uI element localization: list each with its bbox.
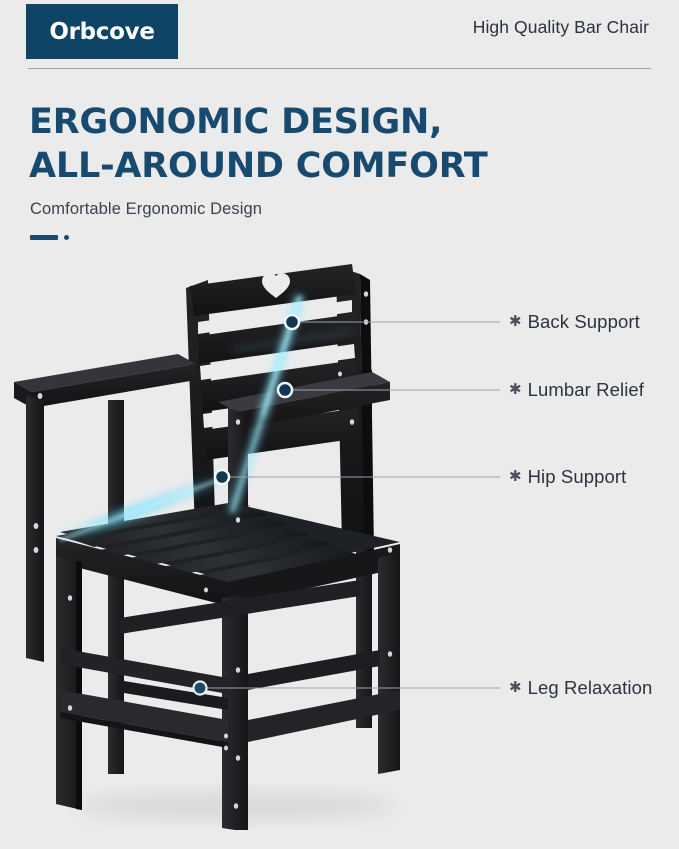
marker-back-support bbox=[285, 315, 299, 329]
callout-leg-relaxation[interactable]: ✱ Leg Relaxation bbox=[509, 677, 652, 699]
infographic-page: Orbcove High Quality Bar Chair ERGONOMIC… bbox=[0, 0, 679, 849]
asterisk-icon: ✱ bbox=[509, 382, 522, 397]
callout-label: Lumbar Relief bbox=[528, 379, 644, 401]
asterisk-icon: ✱ bbox=[509, 469, 522, 484]
asterisk-icon: ✱ bbox=[509, 314, 522, 329]
callout-label: Leg Relaxation bbox=[528, 677, 653, 699]
marker-hip-support bbox=[215, 470, 229, 484]
callout-markers bbox=[194, 315, 300, 695]
callout-hip-support[interactable]: ✱ Hip Support bbox=[509, 466, 626, 488]
asterisk-icon: ✱ bbox=[509, 680, 522, 695]
callout-back-support[interactable]: ✱ Back Support bbox=[509, 311, 640, 333]
callout-lumbar-relief[interactable]: ✱ Lumbar Relief bbox=[509, 379, 644, 401]
marker-leg-relaxation bbox=[194, 682, 207, 695]
marker-lumbar-relief bbox=[278, 383, 292, 397]
callout-label: Hip Support bbox=[528, 466, 627, 488]
callout-label: Back Support bbox=[528, 311, 640, 333]
callout-leader-lines bbox=[0, 0, 679, 849]
